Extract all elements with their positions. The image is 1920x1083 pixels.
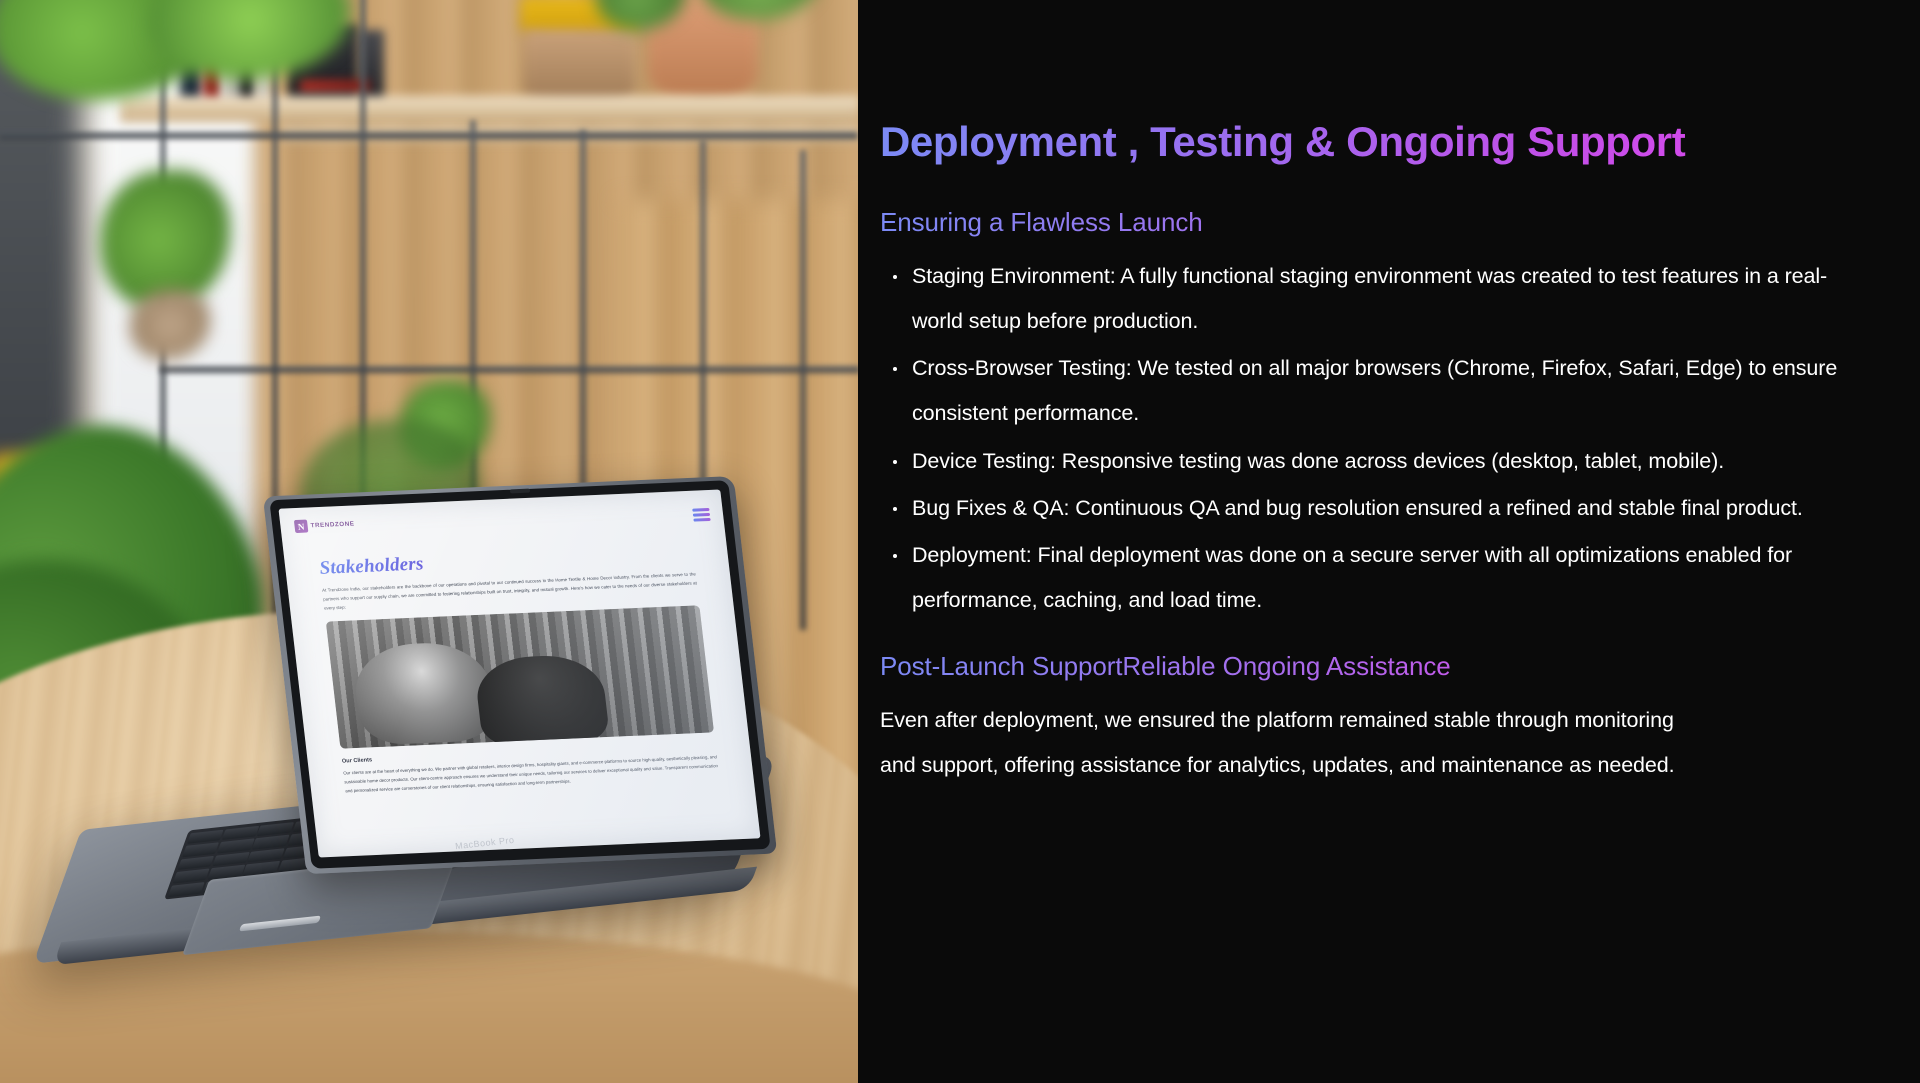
key[interactable] bbox=[167, 882, 205, 897]
brand-logo-text: TRENDZONE bbox=[310, 520, 355, 529]
list-item: Staging Environment: A fully functional … bbox=[880, 254, 1868, 344]
macbook-pro: TRENDZONE Stakeholders At Trendzone Indi… bbox=[0, 0, 858, 1083]
bullet-list: Staging Environment: A fully functional … bbox=[880, 254, 1868, 623]
hamburger-bar bbox=[693, 513, 710, 516]
trendzone-logo-icon bbox=[294, 520, 309, 533]
laptop-mockup-photo: TRENDZONE Stakeholders At Trendzone Indi… bbox=[0, 0, 858, 1083]
brand-logo[interactable]: TRENDZONE bbox=[294, 502, 709, 533]
laptop-screen: TRENDZONE Stakeholders At Trendzone Indi… bbox=[278, 490, 760, 858]
slide-root: TRENDZONE Stakeholders At Trendzone Indi… bbox=[0, 0, 1920, 1083]
list-item: Cross-Browser Testing: We tested on all … bbox=[880, 346, 1868, 436]
list-item: Device Testing: Responsive testing was d… bbox=[880, 439, 1868, 484]
hamburger-menu-icon[interactable] bbox=[692, 508, 711, 522]
hamburger-bar bbox=[693, 518, 710, 521]
list-item: Deployment: Final deployment was done on… bbox=[880, 533, 1868, 623]
section-heading-launch: Ensuring a Flawless Launch bbox=[880, 207, 1868, 238]
closing-paragraph: Even after deployment, we ensured the pl… bbox=[880, 698, 1680, 788]
hamburger-bar bbox=[692, 508, 709, 511]
stakeholders-photo bbox=[326, 606, 714, 749]
content-panel: Deployment , Testing & Ongoing Support E… bbox=[858, 0, 1920, 1083]
list-item: Bug Fixes & QA: Continuous QA and bug re… bbox=[880, 486, 1868, 531]
section-heading-post-launch: Post-Launch SupportReliable Ongoing Assi… bbox=[880, 651, 1868, 682]
website-page: TRENDZONE Stakeholders At Trendzone Indi… bbox=[278, 490, 760, 858]
slide-title: Deployment , Testing & Ongoing Support bbox=[880, 118, 1868, 165]
